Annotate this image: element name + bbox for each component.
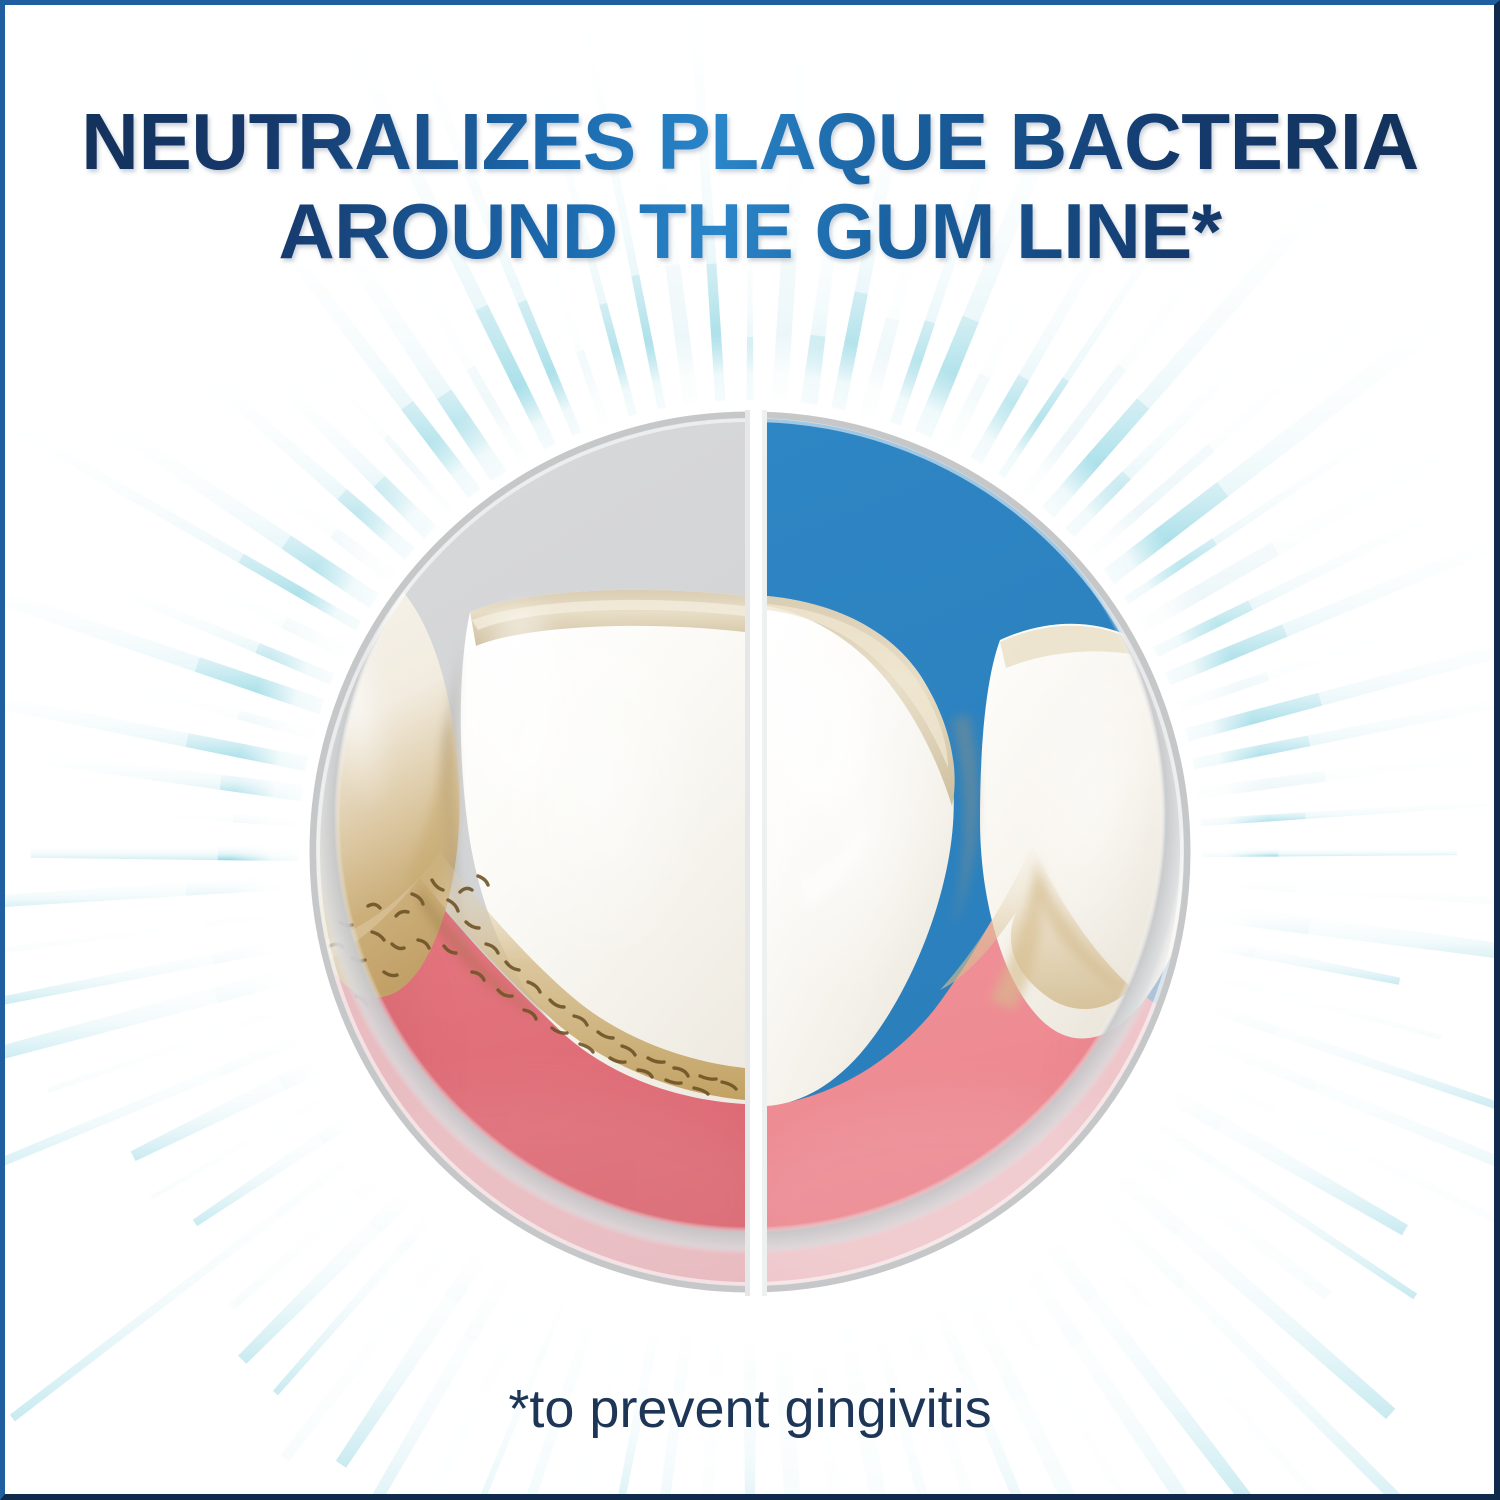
burst-ray-fade (80, 803, 234, 824)
burst-ray-fade (30, 747, 222, 793)
burst-ray-fade (1296, 882, 1500, 910)
footnote-disclaimer: *to prevent gingivitis (0, 1378, 1500, 1440)
burst-ray-fade (1216, 271, 1500, 498)
burst-ray-fade (149, 1110, 298, 1201)
burst-ray-fade (1275, 1025, 1500, 1117)
headline-line-2: AROUND THE GUM LINE* (0, 187, 1500, 276)
burst-ray-fade (31, 840, 218, 863)
burst-ray-fade (129, 1073, 287, 1166)
product-benefit-graphic: NEUTRALIZES PLAQUE BACTERIA AROUND THE G… (0, 0, 1500, 1500)
burst-ray-fade (1254, 945, 1401, 988)
burst-ray-fade (1271, 355, 1500, 557)
burst-ray-fade (1278, 846, 1456, 859)
burst-ray-fade (856, 1432, 946, 1500)
headline: NEUTRALIZES PLAQUE BACTERIA AROUND THE G… (0, 96, 1500, 276)
burst-ray-fade (0, 920, 204, 960)
burst-ray-fade (0, 880, 186, 918)
burst-ray-fade (191, 1132, 326, 1229)
burst-ray-fade (1305, 794, 1500, 820)
headline-line-1: NEUTRALIZES PLAQUE BACTERIA (0, 96, 1500, 187)
burst-ray-fade (0, 672, 189, 749)
burst-ray-fade (140, 546, 288, 630)
